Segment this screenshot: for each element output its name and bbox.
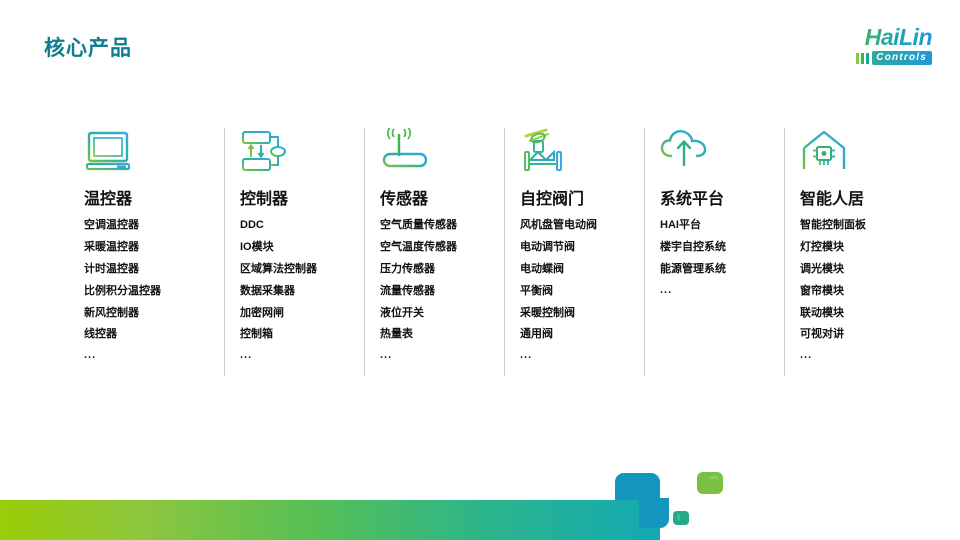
page-title: 核心产品 xyxy=(44,36,132,61)
category-item: 计时温控器 xyxy=(84,262,202,277)
category-column-valve: 自控阀门 风机盘管电动阀 电动调节阀 电动蝶阀 平衡阀 采暖控制阀 通用阀 ..… xyxy=(504,128,644,380)
category-title: 系统平台 xyxy=(660,190,776,209)
footer-gradient-bar xyxy=(0,500,660,540)
category-item: 区域算法控制器 xyxy=(240,262,356,277)
category-item: 电动调节阀 xyxy=(520,240,636,255)
category-item: HAI平台 xyxy=(660,218,776,233)
category-item: 压力传感器 xyxy=(380,262,496,277)
smart-home-chip-icon xyxy=(800,128,848,174)
category-more: ... xyxy=(660,284,776,296)
category-title: 智能人居 xyxy=(800,190,916,209)
category-item: 流量传感器 xyxy=(380,284,496,299)
category-item: 热量表 xyxy=(380,327,496,342)
category-more: ... xyxy=(84,349,216,361)
category-item: 风机盘管电动阀 xyxy=(520,218,636,233)
category-title: 传感器 xyxy=(380,190,496,209)
footer-step-shape xyxy=(615,473,660,500)
hailin-logo: HaiLin Controls xyxy=(812,26,932,70)
category-item: 空调温控器 xyxy=(84,218,202,233)
category-column-platform: 系统平台 HAI平台 楼宇自控系统 能源管理系统 ... xyxy=(644,128,784,380)
category-item: DDC xyxy=(240,218,356,233)
category-column-smarthome: 智能人居 智能控制面板 灯控模块 调光模块 窗帘模块 联动模块 可视对讲 ... xyxy=(784,128,924,380)
category-item: 新风控制器 xyxy=(84,306,202,321)
decor-green-square xyxy=(697,472,723,494)
category-item: 调光模块 xyxy=(800,262,916,277)
decor-teal-square xyxy=(673,511,689,525)
product-category-columns: 温控器 空调温控器 采暖温控器 计时温控器 比例积分温控器 新风控制器 线控器 … xyxy=(84,128,904,380)
category-title: 温控器 xyxy=(84,190,216,209)
category-more: ... xyxy=(520,349,636,361)
category-item: 能源管理系统 xyxy=(660,262,776,277)
footer-notch-shape xyxy=(639,498,669,528)
category-item: 空气温度传感器 xyxy=(380,240,496,255)
category-item: 控制箱 xyxy=(240,327,356,342)
category-item: 灯控模块 xyxy=(800,240,916,255)
category-column-controller: 控制器 DDC IO模块 区域算法控制器 数据采集器 加密网闸 控制箱 ... xyxy=(224,128,364,380)
logo-subwrap: Controls xyxy=(812,51,932,65)
category-item: 窗帘模块 xyxy=(800,284,916,299)
category-item: 液位开关 xyxy=(380,306,496,321)
logo-tagline: Controls xyxy=(872,51,932,65)
category-item: 比例积分温控器 xyxy=(84,284,202,299)
wireless-sensor-icon xyxy=(380,128,428,174)
category-item: 联动模块 xyxy=(800,306,916,321)
monitor-thermostat-icon xyxy=(84,128,132,174)
cloud-upload-icon xyxy=(660,128,708,174)
category-item: 通用阀 xyxy=(520,327,636,342)
category-more: ... xyxy=(240,349,356,361)
logo-wordmark: HaiLin xyxy=(812,26,932,49)
category-item: 加密网闸 xyxy=(240,306,356,321)
category-more: ... xyxy=(800,349,916,361)
category-item: 楼宇自控系统 xyxy=(660,240,776,255)
category-item: 电动蝶阀 xyxy=(520,262,636,277)
category-item: 采暖温控器 xyxy=(84,240,202,255)
category-item: 采暖控制阀 xyxy=(520,306,636,321)
control-valve-icon xyxy=(520,128,568,174)
slide-canvas: 核心产品 HaiLin Controls 温控器 xyxy=(0,0,960,540)
category-title: 控制器 xyxy=(240,190,356,209)
category-more: ... xyxy=(380,349,496,361)
category-item: 智能控制面板 xyxy=(800,218,916,233)
category-item: 可视对讲 xyxy=(800,327,916,342)
category-item: 空气质量传感器 xyxy=(380,218,496,233)
logo-bars-icon xyxy=(856,52,869,64)
category-item: 数据采集器 xyxy=(240,284,356,299)
category-item: IO模块 xyxy=(240,240,356,255)
category-column-thermostat: 温控器 空调温控器 采暖温控器 计时温控器 比例积分温控器 新风控制器 线控器 … xyxy=(84,128,224,380)
controller-module-icon xyxy=(240,128,288,174)
category-item: 线控器 xyxy=(84,327,202,342)
category-column-sensor: 传感器 空气质量传感器 空气温度传感器 压力传感器 流量传感器 液位开关 热量表… xyxy=(364,128,504,380)
category-item: 平衡阀 xyxy=(520,284,636,299)
category-title: 自控阀门 xyxy=(520,190,636,209)
